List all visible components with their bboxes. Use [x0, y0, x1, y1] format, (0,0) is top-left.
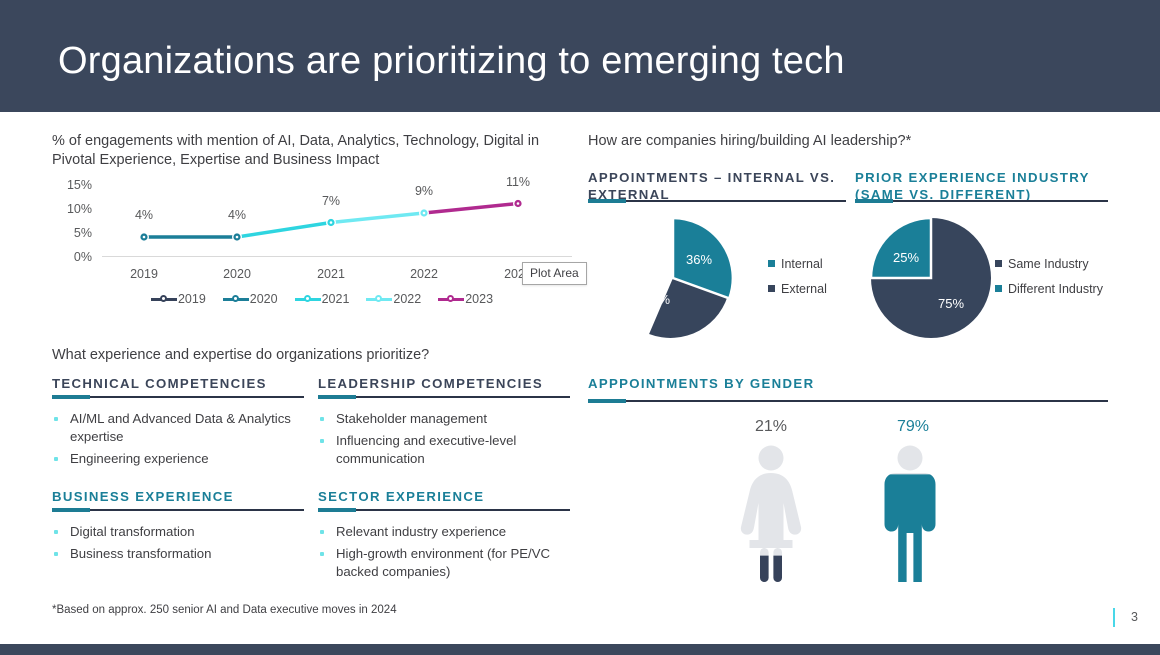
section-rule — [588, 200, 846, 202]
x-tick-2022: 2022 — [394, 267, 454, 281]
legend-marker-icon — [295, 294, 321, 305]
list-item: High-growth environment (for PE/VC backe… — [318, 545, 580, 581]
list-item: Stakeholder management — [318, 410, 576, 428]
pie-label-same-industry: 75% — [938, 296, 964, 311]
page-number: 3 — [1131, 610, 1138, 624]
line-chart-question: % of engagements with mention of AI, Dat… — [52, 132, 580, 170]
legend-label: 2019 — [178, 292, 206, 306]
footer-band — [0, 644, 1160, 655]
data-label-2023: 11% — [498, 175, 538, 189]
pie-legend-internal-external: Internal External — [768, 252, 827, 302]
bullet-list-business: Digital transformation Business transfor… — [52, 523, 310, 567]
hiring-question: How are companies hiring/building AI lea… — [588, 132, 1108, 151]
legend-label: 2020 — [250, 292, 278, 306]
data-label-2019: 4% — [124, 208, 164, 222]
legend-item-internal[interactable]: Internal — [768, 252, 827, 277]
legend-item-2020[interactable]: 2020 — [223, 292, 278, 306]
section-rule — [52, 509, 304, 511]
legend-label: Internal — [781, 257, 823, 271]
x-tick-2019: 2019 — [114, 267, 174, 281]
bullet-list-leadership: Stakeholder management Influencing and e… — [318, 410, 576, 472]
legend-label: 2023 — [465, 292, 493, 306]
legend-marker-icon — [438, 294, 464, 305]
line-chart-legend: 2019 2020 2021 2022 — [52, 292, 592, 306]
list-item: Influencing and executive-level communic… — [318, 432, 576, 468]
legend-marker-icon — [223, 294, 249, 305]
legend-item-2022[interactable]: 2022 — [366, 292, 421, 306]
footnote: *Based on approx. 250 senior AI and Data… — [52, 604, 397, 616]
legend-label: 2021 — [322, 292, 350, 306]
list-item: Engineering experience — [52, 450, 310, 468]
legend-item-same-industry[interactable]: Same Industry — [995, 252, 1103, 277]
legend-swatch-icon — [768, 260, 775, 267]
competency-question: What experience and expertise do organiz… — [52, 346, 592, 365]
section-rule — [318, 396, 570, 398]
section-rule — [855, 200, 1108, 202]
section-heading-sector-experience: SECTOR EXPERIENCE — [318, 488, 598, 505]
list-item: AI/ML and Advanced Data & Analytics expe… — [52, 410, 310, 446]
legend-swatch-icon — [995, 260, 1002, 267]
page-title: Organizations are prioritizing to emergi… — [58, 40, 845, 83]
gender-percent-female: 21% — [726, 418, 816, 436]
section-heading-technical-competencies: TECHNICAL COMPETENCIES — [52, 375, 312, 392]
legend-label: Different Industry — [1008, 282, 1103, 296]
section-rule — [588, 400, 1108, 402]
page-number-bar — [1113, 608, 1115, 627]
pie-label-different-industry: 25% — [893, 250, 919, 265]
pie-label-internal: 36% — [686, 252, 712, 267]
slide: Organizations are prioritizing to emergi… — [0, 0, 1160, 655]
data-label-2022: 9% — [404, 184, 444, 198]
legend-item-2021[interactable]: 2021 — [295, 292, 350, 306]
legend-marker-icon — [366, 294, 392, 305]
plot-area-tooltip: Plot Area — [522, 262, 587, 285]
pie-label-external: 64% — [644, 292, 670, 307]
male-pictogram-icon — [870, 445, 950, 585]
bullet-list-sector: Relevant industry experience High-growth… — [318, 523, 580, 585]
legend-item-different-industry[interactable]: Different Industry — [995, 277, 1103, 302]
x-tick-2021: 2021 — [301, 267, 361, 281]
legend-label: Same Industry — [1008, 257, 1089, 271]
pie-chart-prior-experience[interactable] — [866, 213, 996, 343]
legend-item-2019[interactable]: 2019 — [151, 292, 206, 306]
list-item: Relevant industry experience — [318, 523, 580, 541]
bullet-list-technical: AI/ML and Advanced Data & Analytics expe… — [52, 410, 310, 472]
list-item: Business transformation — [52, 545, 310, 563]
gender-percent-male: 79% — [868, 418, 958, 436]
legend-swatch-icon — [995, 285, 1002, 292]
female-pictogram-icon — [731, 445, 811, 585]
section-rule — [52, 396, 304, 398]
pie-chart-internal-external[interactable] — [608, 213, 738, 343]
section-heading-leadership-competencies: LEADERSHIP COMPETENCIES — [318, 375, 598, 392]
section-heading-business-experience: BUSINESS EXPERIENCE — [52, 488, 312, 505]
legend-label: External — [781, 282, 827, 296]
list-item: Digital transformation — [52, 523, 310, 541]
x-tick-2020: 2020 — [207, 267, 267, 281]
legend-item-external[interactable]: External — [768, 277, 827, 302]
legend-label: 2022 — [393, 292, 421, 306]
legend-item-2023[interactable]: 2023 — [438, 292, 493, 306]
legend-marker-icon — [151, 294, 177, 305]
data-label-2021: 7% — [311, 194, 351, 208]
section-heading-prior-experience-industry: PRIOR EXPERIENCE INDUSTRY (SAME VS. DIFF… — [855, 169, 1113, 203]
pie-legend-prior-experience: Same Industry Different Industry — [995, 252, 1103, 302]
legend-swatch-icon — [768, 285, 775, 292]
section-heading-appointments-by-gender: APPPOINTMENTS BY GENDER — [588, 375, 988, 392]
section-rule — [318, 509, 570, 511]
data-label-2020: 4% — [217, 208, 257, 222]
